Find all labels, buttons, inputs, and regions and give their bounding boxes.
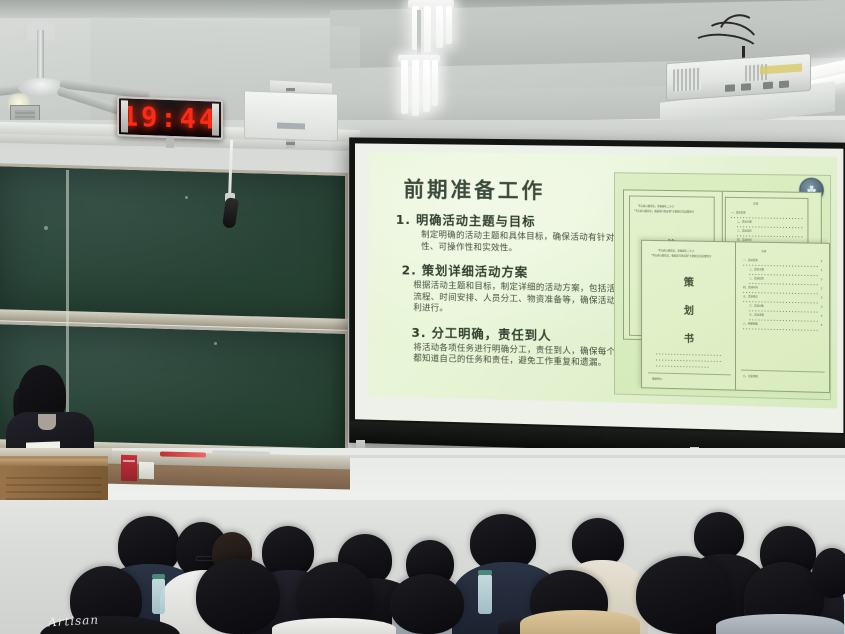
slide-section-heading: 3. 分工明确，责任到人 [396, 321, 625, 345]
document-toc-header: 目录 [761, 250, 766, 253]
document-cover-header: 不忘初心跟党走，青春献礼二十大 [638, 205, 674, 209]
document-cover-char: 策 [642, 273, 736, 290]
slide-section: 3. 分工明确，责任到人 将活动各项任务进行明确分工，责任到人，确保每个人都知道… [396, 321, 625, 370]
audience-area: Artisan [0, 500, 845, 634]
chalk-mark [185, 196, 188, 199]
clock-digits: 19:44 [122, 101, 218, 135]
document-toc-item: 三、活动目的 [737, 229, 752, 232]
document-toc-item: 四、活动时间 [743, 286, 758, 289]
clock-mount [166, 136, 174, 148]
slide-section-heading: 1. 明确活动主题与目标 [396, 209, 625, 231]
desk-red-box [121, 455, 137, 481]
student-head [390, 574, 464, 634]
desk-white-box [139, 462, 154, 479]
projector-vent [673, 68, 701, 92]
slide-section-body: 根据活动主题和目标，制定详细的活动方案，包括活动流程、时间安排、人员分工、物资准… [396, 280, 625, 319]
projector-port [725, 84, 735, 92]
document-toc-item: 八、经费预算 [743, 322, 758, 325]
document-toc-page: 2 [821, 287, 823, 290]
projector-port [741, 83, 751, 91]
student-shoulders [272, 618, 396, 634]
clock-bracket [121, 100, 128, 132]
document-toc-page: 2 [821, 278, 823, 281]
document-cover-header: "不忘初心跟党走，砥砺前行新征程"主题团日活动策划书 [651, 254, 711, 258]
ac-logo [277, 123, 305, 130]
slide-section-body: 将活动各项任务进行明确分工，责任到人，确保每个人都知道自己的任务和责任，避免工作… [396, 342, 625, 370]
document-toc-item: 一、活动背景 [743, 259, 758, 262]
document-page-front: 不忘初心跟党走，青春献礼二十大 "不忘初心跟党走，砥砺前行新征程"主题团日活动策… [641, 240, 830, 393]
slide-body: 1. 明确活动主题与目标 制定明确的活动主题和具体目标，确保活动有针对性、可操作… [396, 209, 625, 377]
document-cover-char: 书 [642, 329, 736, 346]
document-cover-char: 划 [642, 301, 736, 318]
lecturer-collar [38, 414, 56, 430]
student-shoulders [520, 610, 640, 634]
document-toc-page: 1 [821, 269, 823, 272]
slide-document-image: ☘ 不忘初心跟党走，青春献礼二十大 "不忘初心跟党走，砥砺前行新征程"主题团日活… [614, 172, 831, 400]
student-head [694, 512, 744, 560]
chalkboard-divider [66, 170, 69, 446]
projection-screen: 前期准备工作 1. 明确活动主题与目标 制定明确的活动主题和具体目标，确保活动有… [349, 137, 845, 457]
document-toc-page: 1 [821, 260, 823, 263]
chalkboard-upper [0, 163, 348, 325]
chalk-mark [44, 226, 48, 230]
document-toc-item: 九、注意事项 [743, 375, 758, 378]
air-conditioner-unit [244, 90, 338, 141]
document-toc-item: 三、活动目的 [749, 277, 764, 280]
chalk-mark [214, 342, 217, 345]
student-head [812, 548, 845, 598]
document-toc-item: 一、活动背景 [731, 211, 746, 214]
document-toc-item: 七、活动流程 [749, 313, 764, 316]
document-toc-page: 3 [821, 296, 823, 299]
document-cover-header: 不忘初心跟党走，青春献礼二十大 [658, 249, 694, 253]
document-toc-page: 3 [821, 306, 823, 309]
jacket-graphic: Artisan [48, 613, 100, 630]
lecture-hall-scene: Teacher 19:44 前期准备工作 1. 明确活动主题与目标 制定 [0, 0, 845, 634]
document-toc-header: 目录 [753, 202, 758, 205]
document-toc-page: 4 [821, 315, 823, 318]
projector-label [760, 64, 802, 75]
student-shoulders [716, 614, 844, 634]
slide-title: 前期准备工作 [404, 174, 546, 206]
student-head [196, 558, 280, 634]
document-toc-item: 二、活动主题 [749, 268, 764, 271]
slide-section: 1. 明确活动主题与目标 制定明确的活动主题和具体目标，确保活动有针对性、可操作… [396, 209, 625, 257]
screen-surface: 前期准备工作 1. 明确活动主题与目标 制定明确的活动主题和具体目标，确保活动有… [355, 143, 843, 433]
document-toc-page: 5 [821, 324, 823, 327]
document-toc-item: 六、活动对象 [749, 304, 764, 307]
pendant-light-fixture [408, 0, 454, 52]
document-toc-item: 五、活动地点 [743, 295, 758, 298]
podium-edge [0, 459, 108, 466]
document-toc-item: 二、活动主题 [737, 220, 752, 223]
clock-bracket [212, 103, 219, 135]
projector-port [779, 80, 789, 88]
pendant-light-fixture [398, 55, 440, 117]
slide-section-heading: 2. 策划详细活动方案 [396, 259, 625, 282]
slide-section-body: 制定明确的活动主题和具体目标，确保活动有针对性、可操作性和实效性。 [396, 230, 625, 257]
slide-section: 2. 策划详细活动方案 根据活动主题和目标，制定详细的活动方案，包括活动流程、时… [396, 259, 625, 319]
presentation-slide: 前期准备工作 1. 明确活动主题与目标 制定明确的活动主题和具体目标，确保活动有… [369, 151, 838, 408]
document-cover-footer: 策划单位： [652, 377, 664, 380]
water-bottle [152, 578, 165, 614]
water-bottle [478, 574, 492, 614]
fan-rod [37, 30, 44, 82]
projector-port [763, 82, 773, 90]
led-wall-clock: 19:44 [117, 96, 223, 140]
